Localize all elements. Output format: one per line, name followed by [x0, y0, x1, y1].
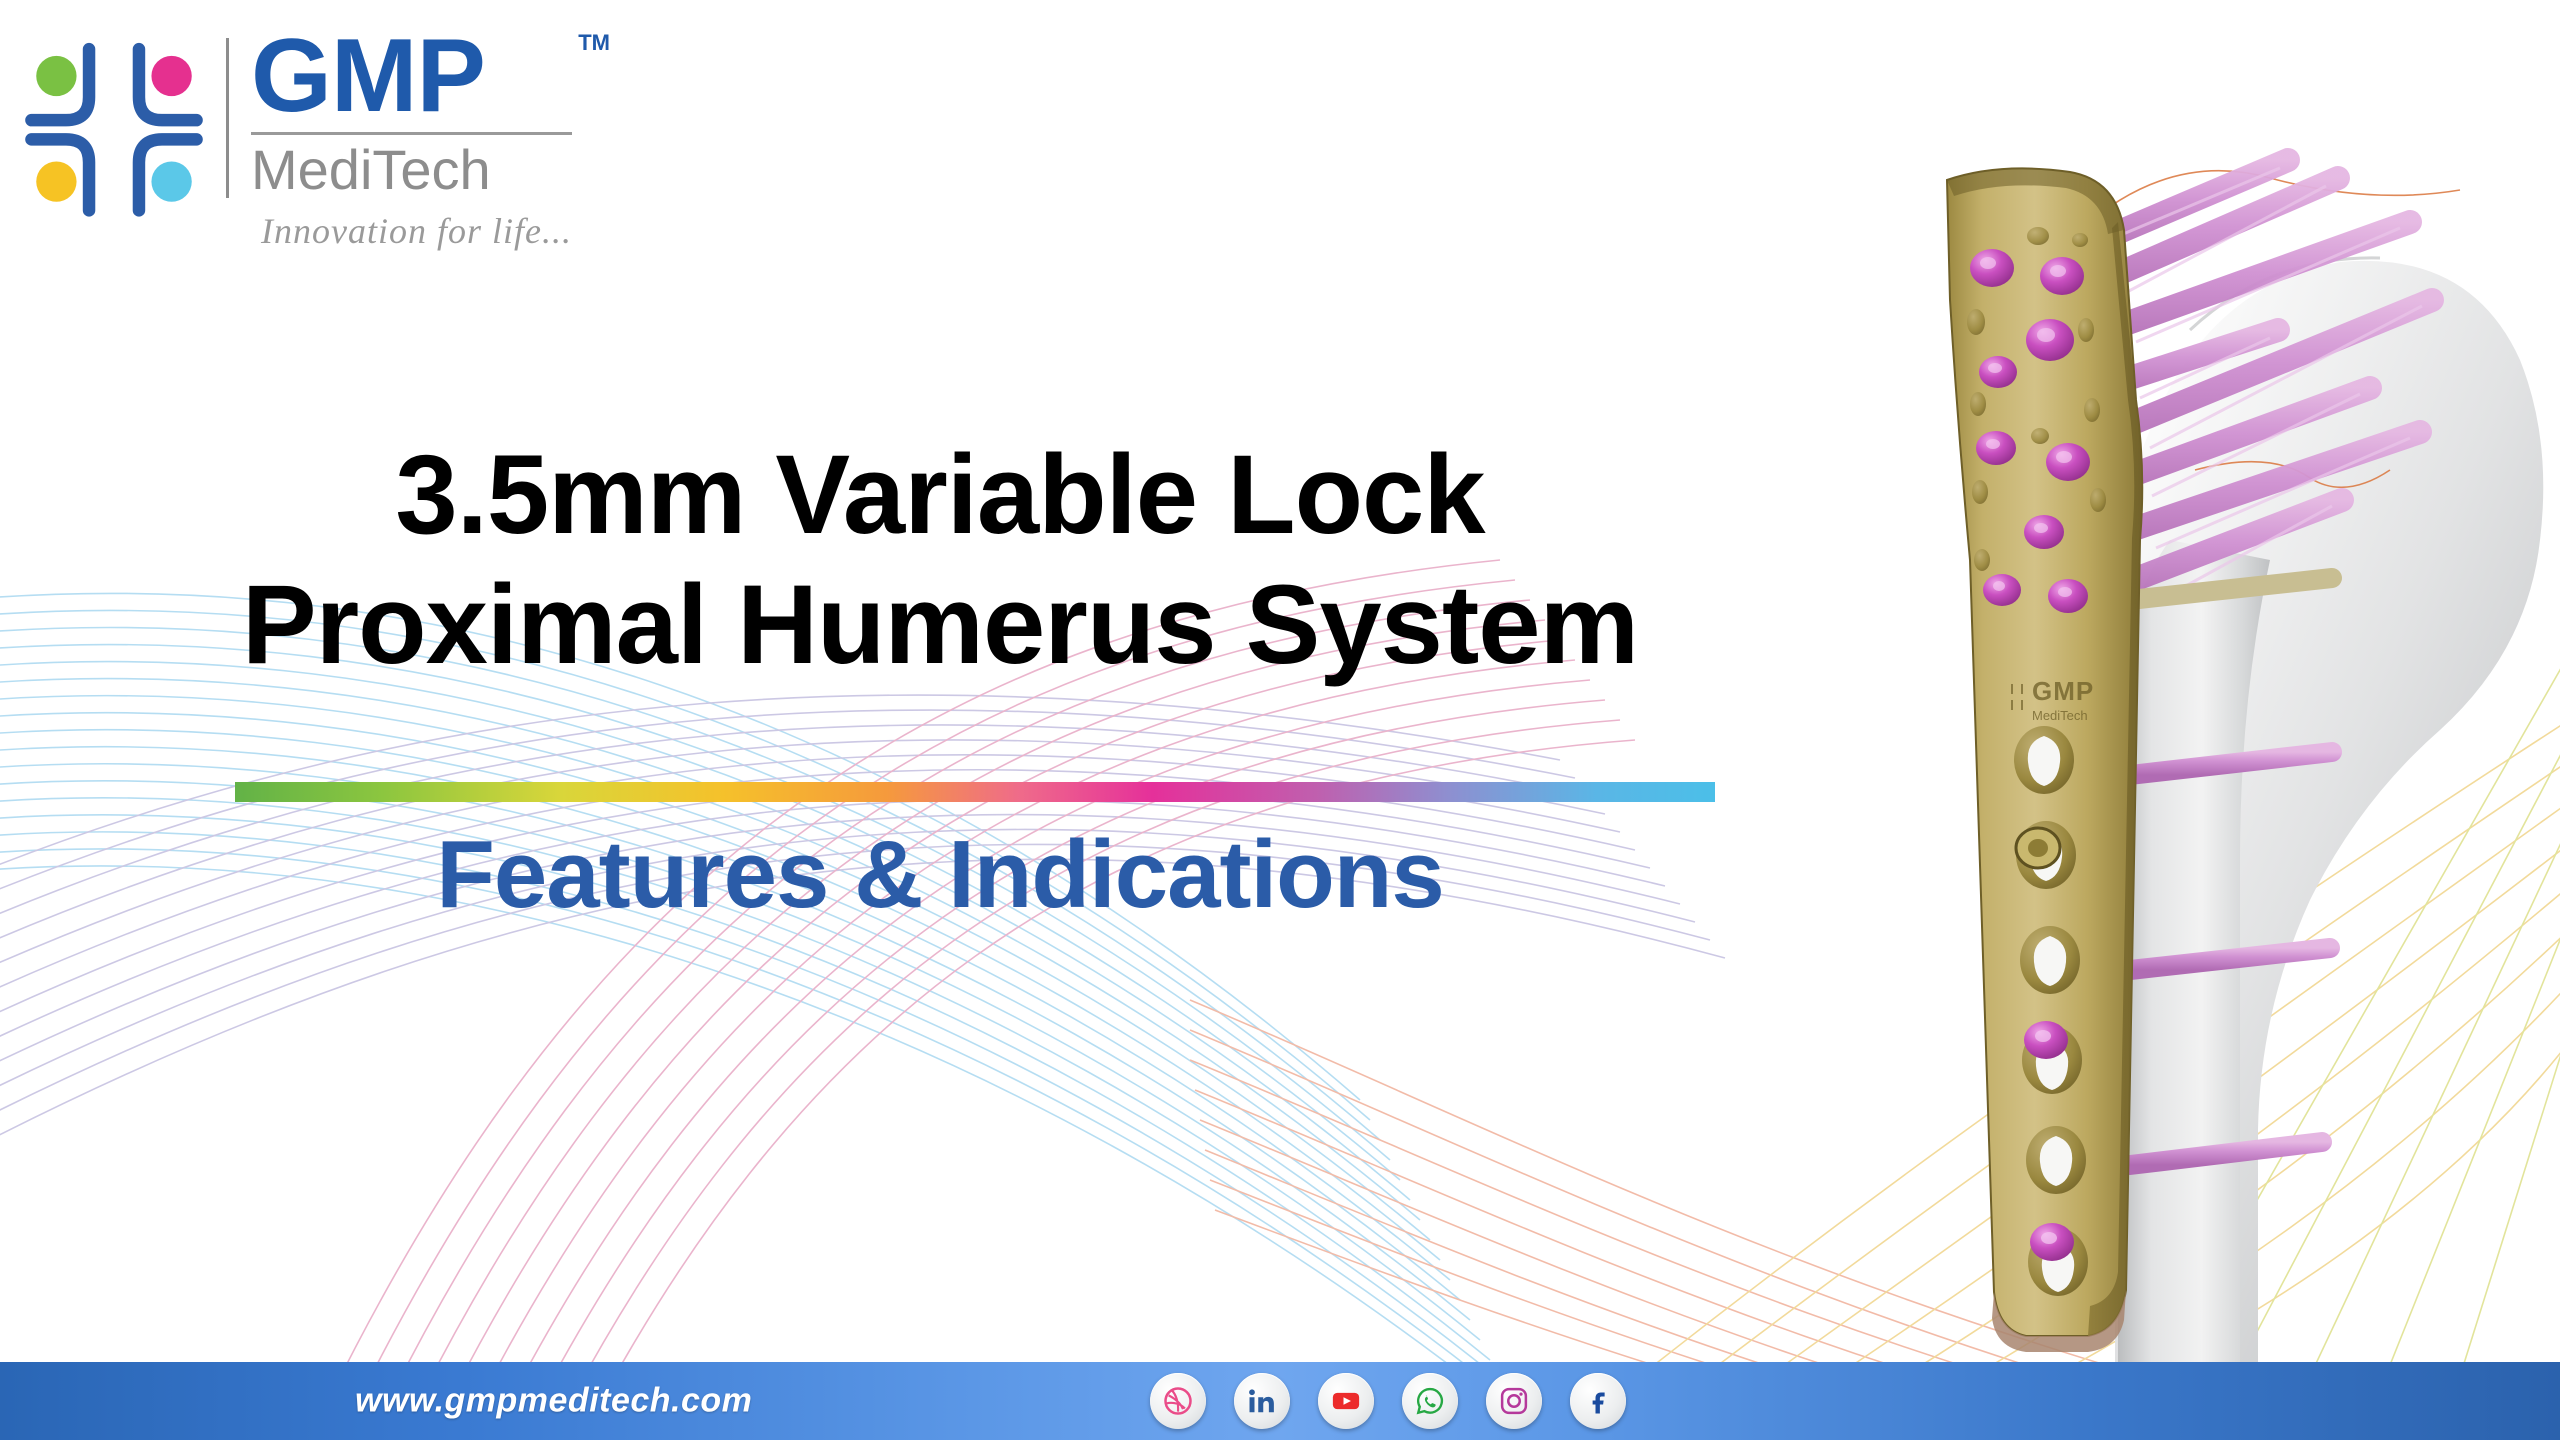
gmp-pinwheel-logo-mark: [18, 28, 210, 220]
logo-wordmark: GMP TM MediTech Innovation for life...: [251, 20, 572, 252]
logo-divider: [226, 38, 229, 198]
footer-bar: www.gmpmeditech.com: [0, 1362, 2560, 1440]
instagram-icon[interactable]: [1486, 1373, 1542, 1429]
social-links: [1150, 1373, 1626, 1429]
page-title: 3.5mm Variable Lock Proximal Humerus Sys…: [0, 430, 1880, 690]
brand-subname: MediTech: [251, 141, 572, 200]
svg-text:MediTech: MediTech: [2032, 708, 2088, 723]
logo-dot-yellow: [36, 161, 76, 201]
facebook-icon[interactable]: [1570, 1373, 1626, 1429]
page-subtitle: Features & Indications: [0, 820, 1880, 930]
rainbow-gradient-bar: [235, 782, 1715, 802]
svg-text:GMP: GMP: [2032, 676, 2094, 706]
linkedin-icon[interactable]: [1234, 1373, 1290, 1429]
slide-canvas: GMP TM MediTech Innovation for life... 3…: [0, 0, 2560, 1440]
title-line-2: Proximal Humerus System: [0, 560, 1880, 690]
brand-tagline: Innovation for life...: [261, 210, 572, 252]
youtube-icon[interactable]: [1318, 1373, 1374, 1429]
trademark-symbol: TM: [578, 30, 610, 56]
title-line-1: 3.5mm Variable Lock: [0, 430, 1880, 560]
logo-dot-pink: [151, 56, 191, 96]
whatsapp-icon[interactable]: [1402, 1373, 1458, 1429]
brand-logo: GMP TM MediTech Innovation for life...: [18, 20, 638, 270]
humerus-locking-plate: GMP MediTech: [1947, 168, 2142, 1352]
dribbble-icon[interactable]: [1150, 1373, 1206, 1429]
proximal-humerus-plate-3d-render: GMP MediTech: [1940, 0, 2560, 1390]
logo-dot-green: [36, 56, 76, 96]
logo-dot-cyan: [151, 161, 191, 201]
brand-name: GMP: [251, 24, 572, 128]
website-url[interactable]: www.gmpmeditech.com: [355, 1382, 752, 1421]
